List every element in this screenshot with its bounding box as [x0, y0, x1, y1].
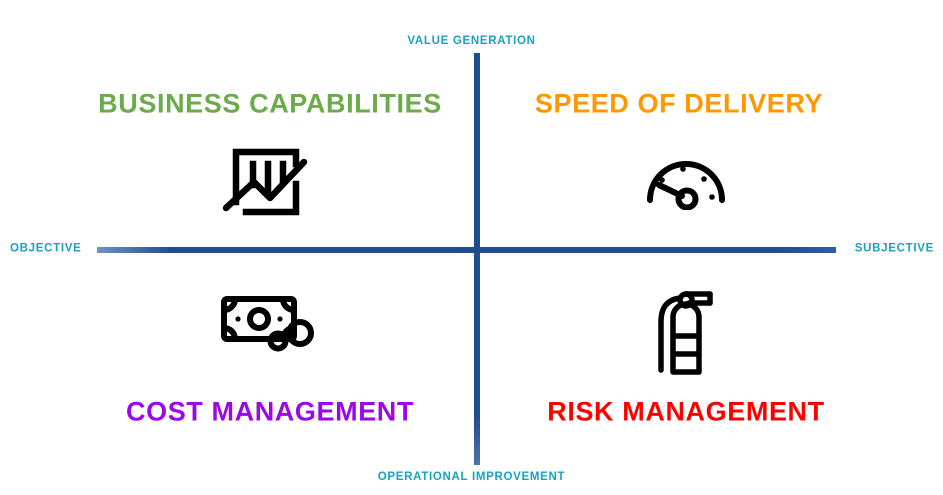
speedometer-icon	[643, 150, 729, 210]
chart-icon	[220, 140, 312, 224]
axis-label-operational-improvement: OPERATIONAL IMPROVEMENT	[378, 472, 566, 484]
money-icon	[220, 291, 314, 353]
axis-label-value-generation: VALUE GENERATION	[407, 36, 535, 48]
quadrant-title-speed-of-delivery: SPEED OF DELIVERY	[535, 91, 823, 118]
axis-label-subjective: SUBJECTIVE	[855, 243, 934, 255]
quadrant-diagram: VALUE GENERATION OPERATIONAL IMPROVEMENT…	[0, 0, 943, 495]
quadrant-title-cost-management: COST MANAGEMENT	[126, 399, 414, 426]
fire-extinguisher-icon	[655, 286, 717, 376]
axis-label-objective: OBJECTIVE	[10, 243, 81, 255]
quadrant-title-risk-management: RISK MANAGEMENT	[547, 399, 825, 426]
vertical-axis-line	[474, 53, 480, 465]
horizontal-axis-line	[97, 247, 836, 253]
quadrant-title-business-capabilities: BUSINESS CAPABILITIES	[98, 91, 442, 118]
